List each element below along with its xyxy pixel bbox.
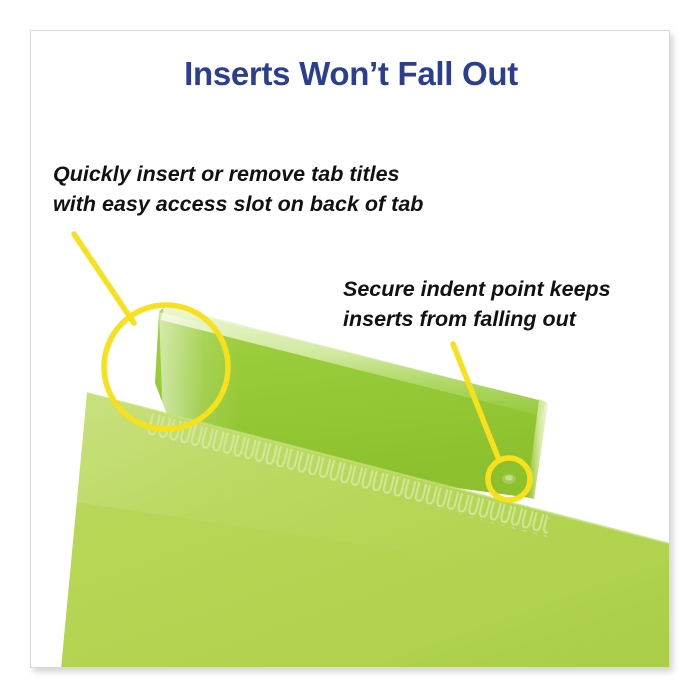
- product-card: Inserts Won’t Fall Out Quickly insert or…: [30, 30, 670, 668]
- product-feature-image: Inserts Won’t Fall Out Quickly insert or…: [0, 0, 700, 700]
- annotation-label-access-slot: Quickly insert or remove tab titles with…: [53, 159, 423, 219]
- indent-point: [502, 474, 516, 484]
- annotation-label-indent-point: Secure indent point keeps inserts from f…: [343, 274, 611, 334]
- page-title: Inserts Won’t Fall Out: [31, 55, 670, 93]
- product-photo: [31, 31, 670, 668]
